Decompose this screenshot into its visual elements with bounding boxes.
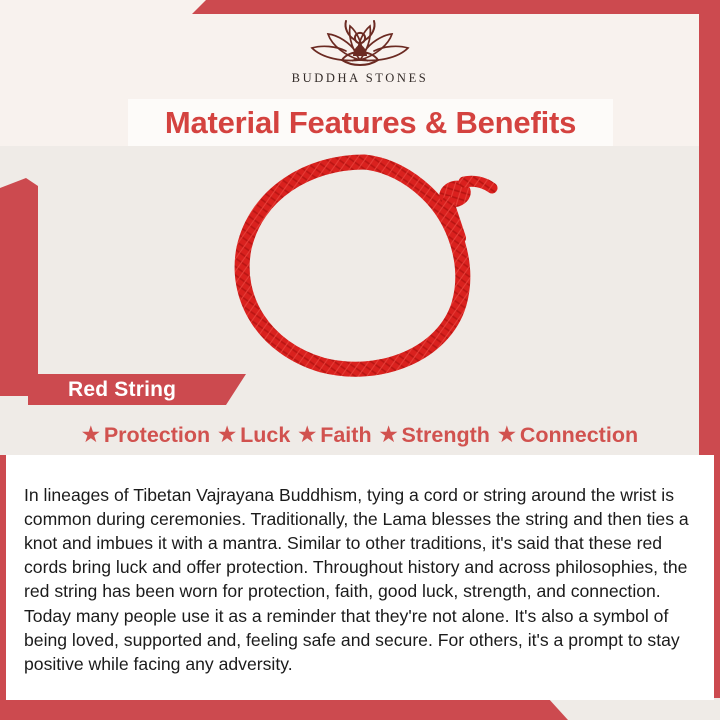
benefit-label: Protection (104, 423, 210, 448)
lotus-meditation-icon (302, 16, 418, 68)
star-icon: ★ (498, 425, 516, 445)
product-label: Red String (68, 378, 176, 402)
page-title: Material Features & Benefits (165, 105, 576, 141)
description-panel: In lineages of Tibetan Vajrayana Buddhis… (6, 455, 714, 700)
product-label-banner: Red String (28, 374, 246, 405)
benefit-label: Strength (402, 423, 490, 448)
benefit-item: ★ Faith (298, 423, 371, 448)
benefits-list: ★ Protection ★ Luck ★ Faith ★ Strength ★… (0, 419, 720, 451)
brand-logo: BUDDHA STONES (0, 16, 720, 86)
benefit-item: ★ Protection (82, 423, 210, 448)
benefit-label: Faith (320, 423, 371, 448)
star-icon: ★ (82, 425, 100, 445)
decorative-band-left (0, 178, 38, 396)
title-banner: Material Features & Benefits (128, 99, 613, 146)
decorative-band-bottom (0, 698, 580, 720)
star-icon: ★ (380, 425, 398, 445)
description-text: In lineages of Tibetan Vajrayana Buddhis… (24, 483, 698, 677)
benefit-label: Connection (520, 423, 638, 448)
star-icon: ★ (298, 425, 316, 445)
benefit-label: Luck (240, 423, 290, 448)
brand-name: BUDDHA STONES (292, 71, 429, 86)
benefit-item: ★ Connection (498, 423, 638, 448)
star-icon: ★ (218, 425, 236, 445)
product-image (212, 152, 512, 380)
infographic-page: BUDDHA STONES Material Features & Benefi… (0, 0, 720, 720)
benefit-item: ★ Strength (380, 423, 490, 448)
benefit-item: ★ Luck (218, 423, 290, 448)
